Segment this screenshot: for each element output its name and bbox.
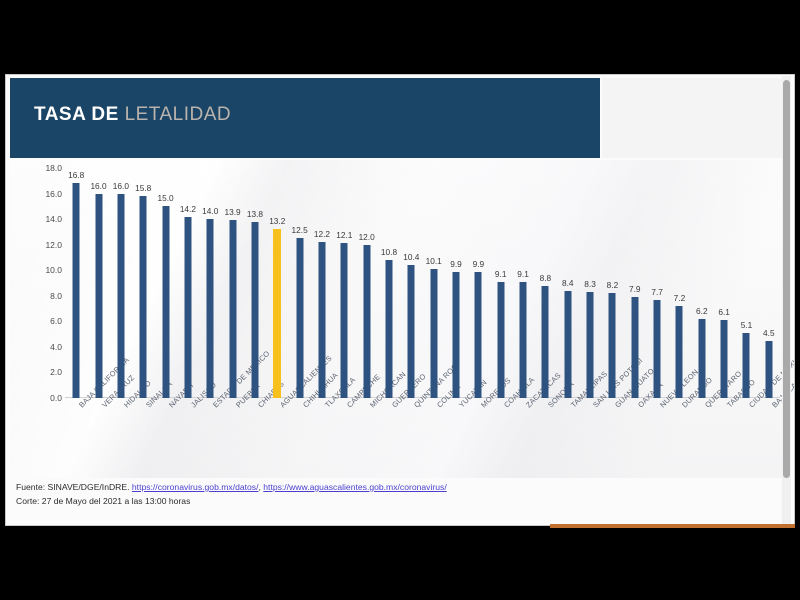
y-axis-tick: 4.0: [28, 342, 62, 352]
y-axis-tick: 14.0: [28, 214, 62, 224]
bar-slot: 13.8: [244, 160, 266, 398]
bar-value-label: 16.0: [90, 181, 106, 191]
bar-value-label: 16.0: [113, 181, 129, 191]
bar-value-label: 7.7: [651, 287, 663, 297]
bar[interactable]: [721, 320, 728, 398]
bar[interactable]: [743, 333, 750, 398]
bar-value-label: 8.8: [540, 273, 552, 283]
bar-slot: 9.1: [512, 160, 534, 398]
bar-value-label: 13.9: [225, 207, 241, 217]
bar[interactable]: [609, 293, 616, 398]
bar[interactable]: [564, 291, 571, 398]
bar-value-label: 15.8: [135, 183, 151, 193]
bar[interactable]: [654, 300, 661, 398]
bar-slot: 12.1: [333, 160, 355, 398]
bar[interactable]: [497, 282, 504, 398]
bar-slot: 7.7: [646, 160, 668, 398]
plot-area: 16.8BAJA CALIFORNIA16.0VERACRUZ16.0HIDAL…: [65, 160, 780, 398]
slide-title: TASA DE LETALIDAD: [34, 105, 231, 125]
y-axis-tick: 6.0: [28, 316, 62, 326]
bar-value-label: 12.0: [359, 232, 375, 242]
bar-slot: 10.8: [378, 160, 400, 398]
bar[interactable]: [162, 206, 169, 398]
bar-value-label: 7.2: [674, 293, 686, 303]
bar-slot: 12.0: [355, 160, 377, 398]
bar-value-label: 12.5: [292, 225, 308, 235]
bar-value-label: 13.8: [247, 209, 263, 219]
bar-value-label: 10.1: [426, 256, 442, 266]
bar-slot: 15.8: [132, 160, 154, 398]
bar[interactable]: [520, 282, 527, 398]
bar-slot: 6.2: [691, 160, 713, 398]
bar-slot: 8.8: [534, 160, 556, 398]
bar-value-label: 9.9: [450, 259, 462, 269]
source-link-federal[interactable]: https://coronavirus.gob.mx/datos/: [132, 482, 259, 492]
bar[interactable]: [117, 194, 124, 398]
bar-value-label: 9.1: [517, 269, 529, 279]
source-link-state[interactable]: https://www.aguascalientes.gob.mx/corona…: [263, 482, 446, 492]
footer-cutoff-line: Corte: 27 de Mayo del 2021 a las 13:00 h…: [16, 494, 776, 508]
screen: TASA DE LETALIDAD 12.5: [0, 0, 800, 600]
bar-slot: 8.4: [557, 160, 579, 398]
bar-slot: 8.2: [601, 160, 623, 398]
source-prefix: Fuente: SINAVE/DGE/InDRE.: [16, 482, 130, 492]
bar[interactable]: [273, 229, 281, 398]
bar[interactable]: [765, 341, 772, 399]
bar[interactable]: [676, 306, 683, 398]
bar-value-label: 8.3: [584, 279, 596, 289]
bar[interactable]: [73, 183, 80, 398]
bar-slot: 16.0: [110, 160, 132, 398]
bar[interactable]: [207, 219, 214, 398]
bar[interactable]: [184, 217, 191, 398]
bar-value-label: 13.2: [269, 216, 285, 226]
bar[interactable]: [698, 319, 705, 398]
title-light: LETALIDAD: [125, 104, 232, 125]
presentation-slide: TASA DE LETALIDAD 12.5: [6, 75, 794, 525]
brand-strip: [602, 78, 790, 158]
bar-value-label: 4.5: [763, 328, 775, 338]
y-axis-tick: 16.0: [28, 189, 62, 199]
bar[interactable]: [140, 196, 147, 398]
bar-value-label: 9.9: [473, 259, 485, 269]
bar-slot: 14.0: [199, 160, 221, 398]
vertical-scrollbar-thumb[interactable]: [783, 80, 790, 478]
y-axis-tick: 0.0: [28, 393, 62, 403]
bar-slot: 9.9: [467, 160, 489, 398]
bar[interactable]: [95, 194, 102, 398]
bar-slot: 13.9: [221, 160, 243, 398]
bar-value-label: 8.2: [607, 280, 619, 290]
bar[interactable]: [408, 265, 415, 398]
bar-value-label: 9.1: [495, 269, 507, 279]
bar-value-label: 14.0: [202, 206, 218, 216]
bar-slot: 12.5: [288, 160, 310, 398]
bar-value-label: 14.2: [180, 204, 196, 214]
orange-accent-strip: [550, 524, 795, 528]
bar[interactable]: [229, 220, 236, 398]
bar-chart: 0.02.04.06.08.010.012.014.016.018.0 16.8…: [10, 160, 790, 478]
bar-slot: 16.8: [65, 160, 87, 398]
bar-value-label: 10.8: [381, 247, 397, 257]
bar-slot: 6.1: [713, 160, 735, 398]
bar-value-label: 6.1: [718, 307, 730, 317]
bar[interactable]: [631, 297, 638, 398]
footer-note: Fuente: SINAVE/DGE/InDRE. https://corona…: [16, 480, 776, 508]
bar-value-label: 10.4: [403, 252, 419, 262]
bar[interactable]: [318, 242, 325, 398]
y-axis-tick: 2.0: [28, 367, 62, 377]
bar-value-label: 16.8: [68, 170, 84, 180]
bar-value-label: 7.9: [629, 284, 641, 294]
title-bold: TASA DE: [34, 104, 119, 125]
bar-value-label: 5.1: [741, 320, 753, 330]
bar-slot: 4.5: [758, 160, 780, 398]
bar-slot: 9.9: [445, 160, 467, 398]
bar[interactable]: [296, 238, 303, 398]
bar-slot: 5.1: [735, 160, 757, 398]
bar[interactable]: [475, 272, 482, 399]
footer-source-line: Fuente: SINAVE/DGE/InDRE. https://corona…: [16, 480, 776, 494]
bar-value-label: 15.0: [157, 193, 173, 203]
bar-value-label: 8.4: [562, 278, 574, 288]
bar[interactable]: [542, 286, 549, 398]
bar-slot: 10.4: [400, 160, 422, 398]
bar-slot: 12.2: [311, 160, 333, 398]
bar[interactable]: [363, 245, 370, 398]
bar-value-label: 12.2: [314, 229, 330, 239]
bar[interactable]: [587, 292, 594, 398]
bar-slot: 8.3: [579, 160, 601, 398]
bar-slot: 16.0: [87, 160, 109, 398]
y-axis: 0.02.04.06.08.010.012.014.016.018.0: [28, 160, 62, 398]
bar-slot: 13.2: [266, 160, 288, 398]
bar-slot: 10.1: [423, 160, 445, 398]
bar-value-label: 12.1: [336, 230, 352, 240]
y-axis-tick: 18.0: [28, 163, 62, 173]
bar-slot: 7.2: [668, 160, 690, 398]
bar-slot: 7.9: [624, 160, 646, 398]
bar-slot: 15.0: [154, 160, 176, 398]
y-axis-tick: 10.0: [28, 265, 62, 275]
bar-slot: 14.2: [177, 160, 199, 398]
y-axis-tick: 12.0: [28, 240, 62, 250]
bar[interactable]: [341, 243, 348, 398]
bar-value-label: 6.2: [696, 306, 708, 316]
bar[interactable]: [430, 269, 437, 398]
bar[interactable]: [385, 260, 392, 398]
y-axis-tick: 8.0: [28, 291, 62, 301]
bar[interactable]: [453, 272, 460, 399]
bar-slot: 9.1: [490, 160, 512, 398]
bar[interactable]: [251, 222, 258, 398]
